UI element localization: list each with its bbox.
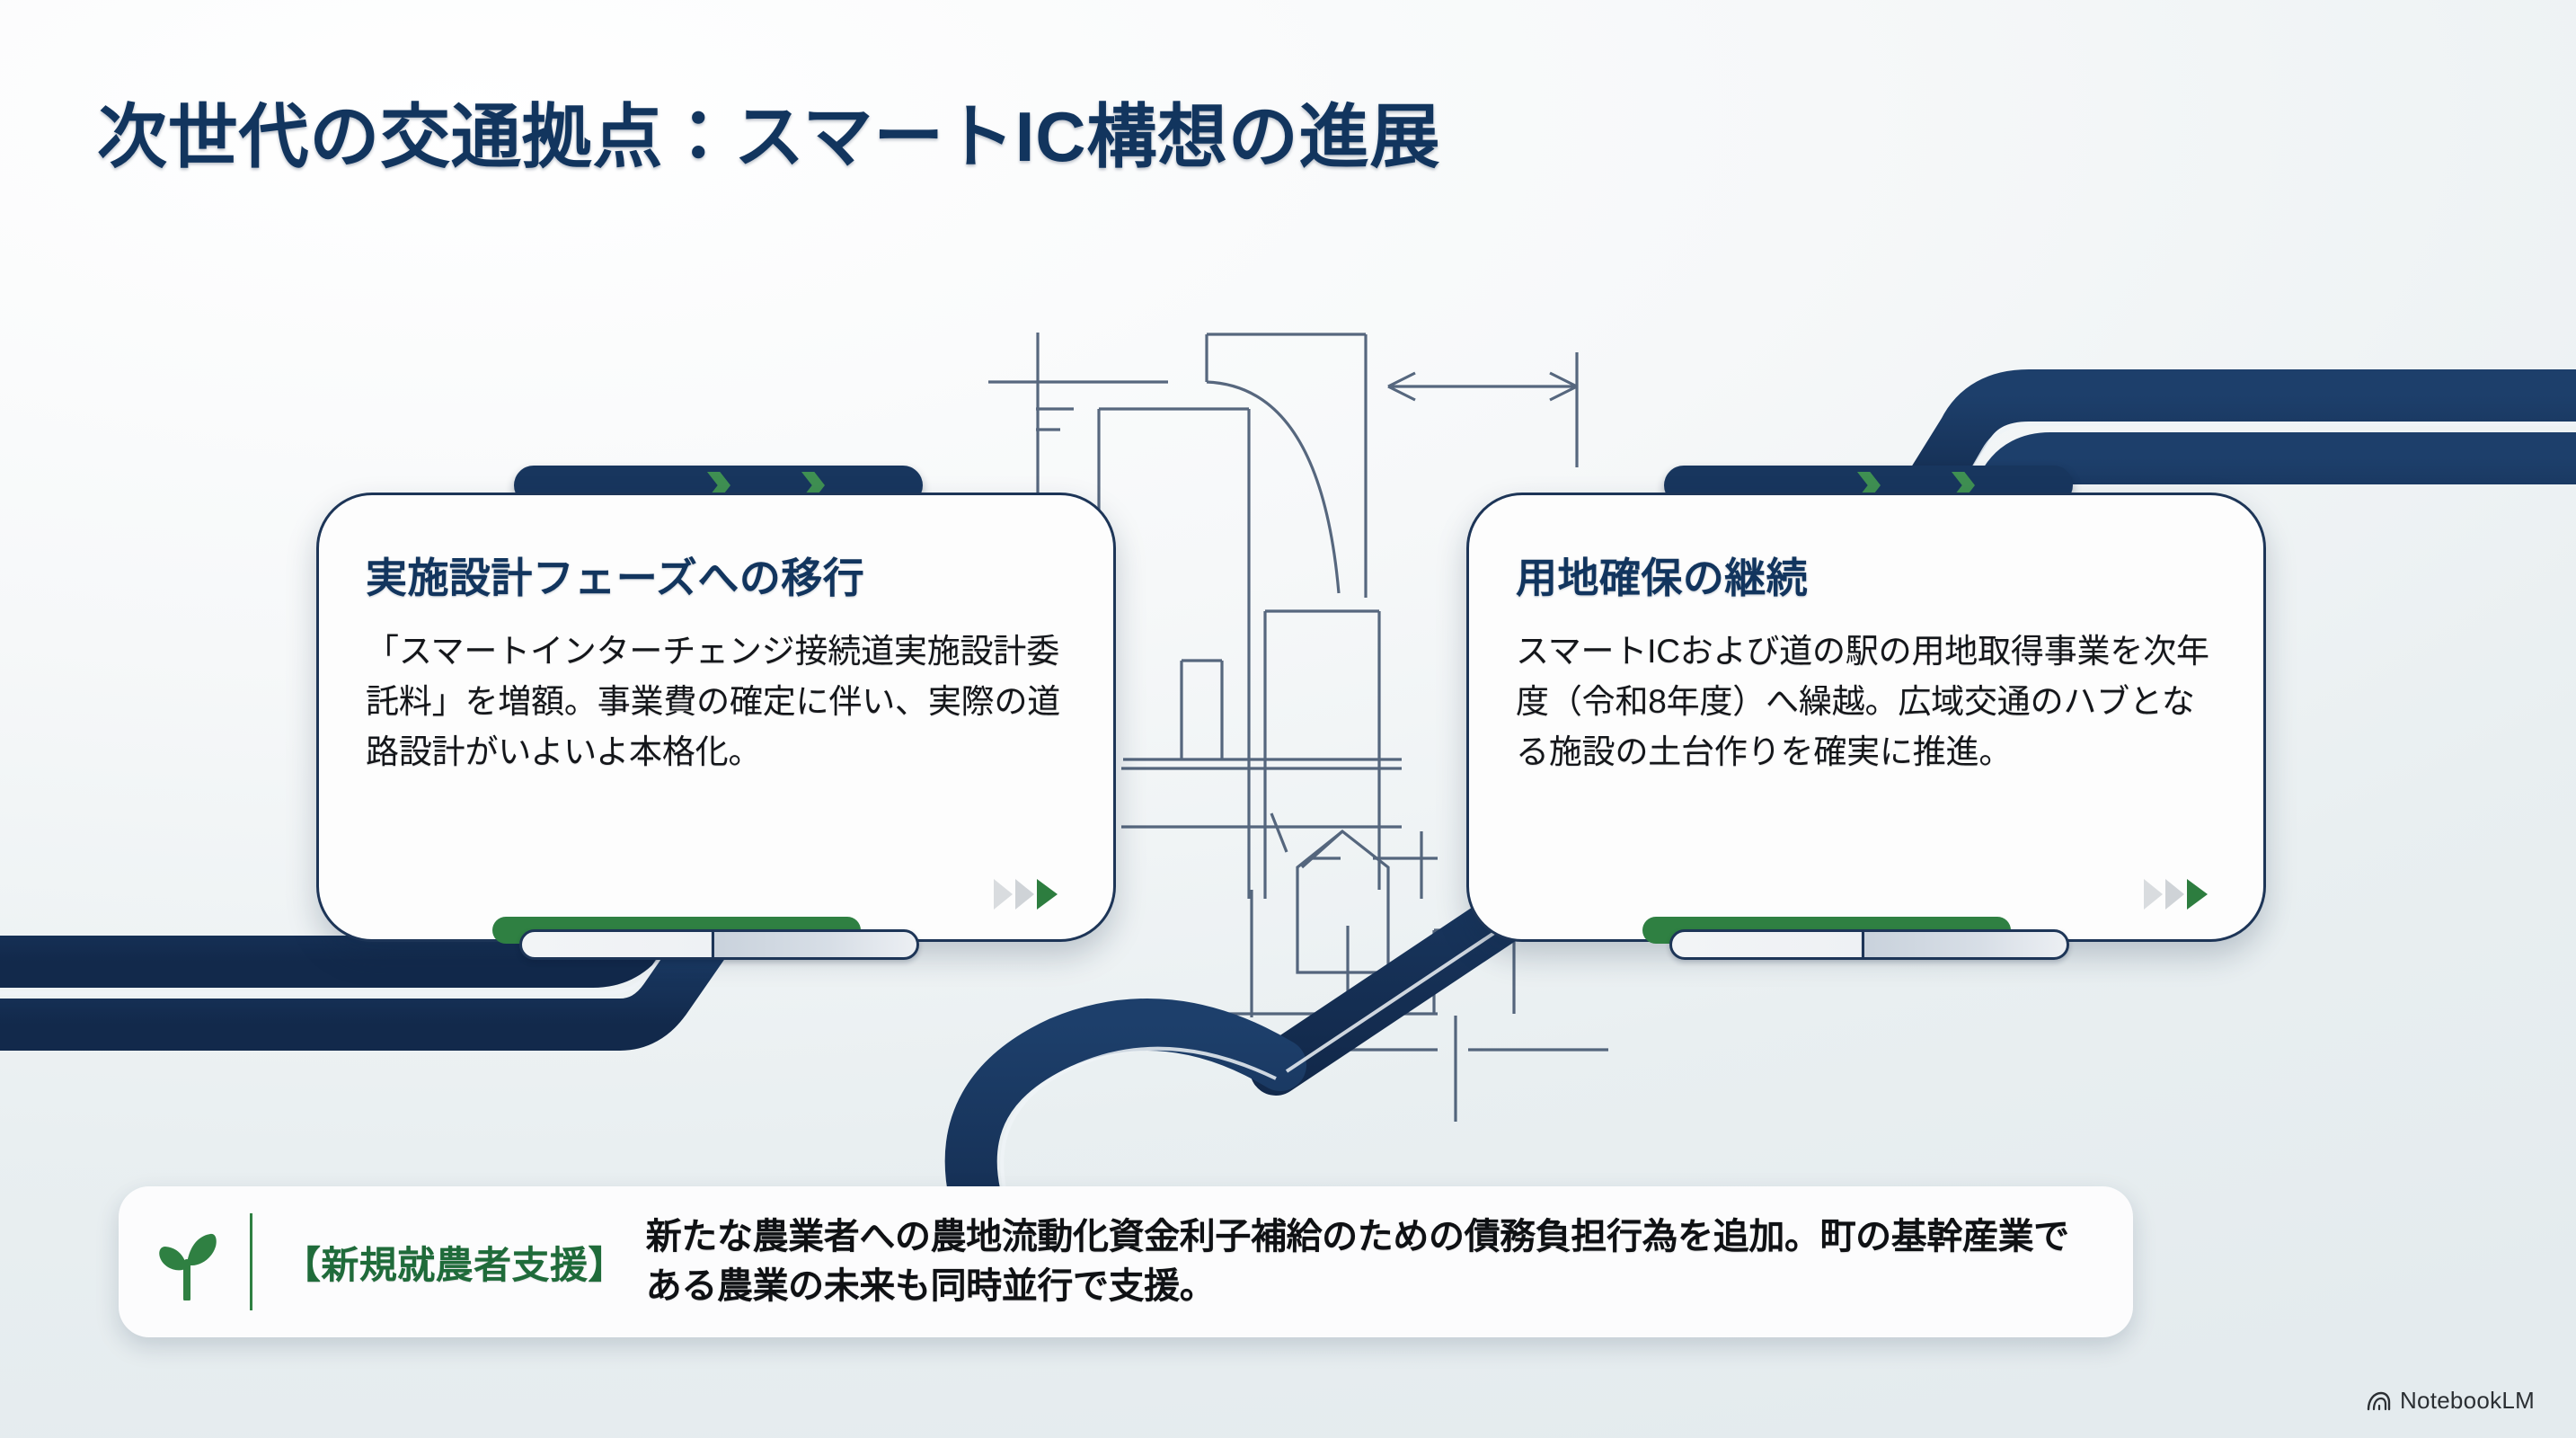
fast-forward-icon [994,879,1058,910]
notebooklm-logo-icon [2366,1390,2391,1412]
card-right-body: スマートICおよび道の駅の用地取得事業を次年度（令和8年度）へ繰越。広域交通のハ… [1516,626,2222,778]
card-left-title: 実施設計フェーズへの移行 [366,546,1072,605]
notebooklm-label: NotebookLM [2400,1387,2535,1415]
notebooklm-watermark: NotebookLM [2366,1387,2535,1415]
card-left-bottom-pill-bar [519,929,919,960]
card-land-acquisition[interactable]: 用地確保の継続 スマートICおよび道の駅の用地取得事業を次年度（令和8年度）へ繰… [1466,493,2266,942]
fast-forward-triangle-3 [1037,879,1058,910]
banner-text: 新たな農業者への農地流動化資金利子補給のための債務負担行為を追加。町の基幹産業で… [646,1212,2102,1311]
banner-tag: 【新規就農者支援】 [283,1235,626,1290]
page-title: 次世代の交通拠点：スマートIC構想の進展 [97,81,1440,182]
fast-forward-triangle-1 [2144,879,2163,910]
fast-forward-icon [2144,879,2208,910]
fast-forward-triangle-2 [1015,879,1034,910]
fast-forward-triangle-3 [2187,879,2208,910]
support-banner: 【新規就農者支援】 新たな農業者への農地流動化資金利子補給のための債務負担行為を… [119,1186,2133,1337]
card-implementation-design[interactable]: 実施設計フェーズへの移行 「スマートインターチェンジ接続道実施設計委託料」を増額… [316,493,1116,942]
fast-forward-triangle-2 [2165,879,2184,910]
slide-canvas: 次世代の交通拠点：スマートIC構想の進展 実施設計フェーズへの移行 「スマートイ… [0,0,2576,1438]
card-right-bottom-pill-bar [1669,929,2069,960]
card-right-title: 用地確保の継続 [1516,546,2222,605]
card-left-body: 「スマートインターチェンジ接続道実施設計委託料」を増額。事業費の確定に伴い、実際… [366,626,1072,778]
banner-divider [250,1213,252,1310]
sprout-icon [155,1223,219,1300]
fast-forward-triangle-1 [994,879,1013,910]
